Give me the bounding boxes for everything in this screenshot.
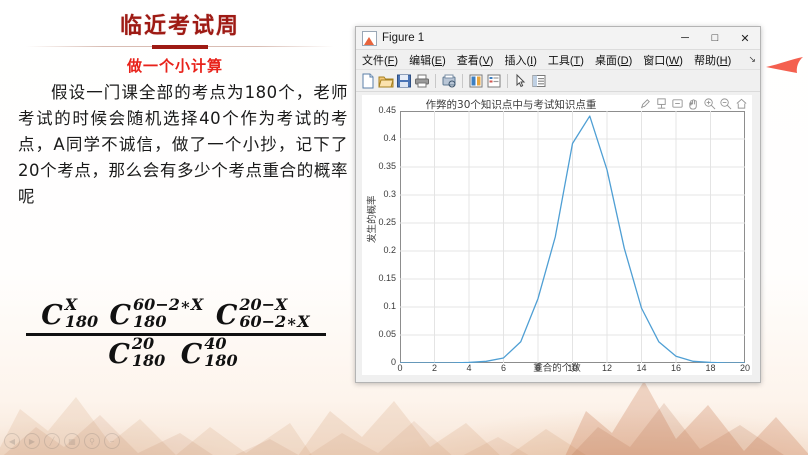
x-tick-label: 0 bbox=[390, 363, 410, 373]
menu-mnemonic: E bbox=[435, 55, 442, 67]
formula-numerator: CX180 C60−2∗X180 C20−X60−2∗X bbox=[26, 300, 326, 331]
toolbar-separator bbox=[507, 74, 508, 88]
menu-label: 插入 bbox=[504, 55, 526, 67]
zoom-in-icon[interactable] bbox=[703, 97, 716, 110]
y-tick-label: 0.15 bbox=[366, 273, 396, 283]
matlab-figure-window[interactable]: Figure 1 ─ □ ✕ 文件(F) 编辑(E) 查看(V) 插入(I) 工… bbox=[355, 26, 761, 383]
menu-mnemonic: F bbox=[388, 55, 395, 67]
toolbar-separator bbox=[462, 74, 463, 88]
brush-data-icon[interactable] bbox=[639, 97, 652, 110]
title-accent-bar bbox=[152, 45, 208, 49]
menu-mnemonic: T bbox=[574, 55, 581, 67]
menu-label: 文件 bbox=[362, 55, 384, 67]
x-tick-label: 18 bbox=[701, 363, 721, 373]
y-tick-label: 0.3 bbox=[366, 189, 396, 199]
property-inspector-icon[interactable] bbox=[531, 73, 547, 89]
formula-term-subscript: 180 bbox=[65, 312, 98, 331]
more-icon[interactable]: − bbox=[104, 433, 120, 449]
print-preview-icon[interactable] bbox=[441, 73, 457, 89]
open-file-icon[interactable] bbox=[378, 73, 394, 89]
menu-label: 编辑 bbox=[409, 55, 431, 67]
slide-grid-icon[interactable]: ▦ bbox=[64, 433, 80, 449]
menu-label: 帮助 bbox=[694, 55, 716, 67]
toolbar-separator bbox=[435, 74, 436, 88]
axes-toolbar[interactable] bbox=[639, 97, 748, 110]
page-title: 临近考试周 bbox=[0, 8, 360, 40]
x-tick-label: 8 bbox=[528, 363, 548, 373]
formula-term: C20−X60−2∗X bbox=[216, 300, 240, 331]
formula-term: C20180 bbox=[108, 339, 132, 370]
maximize-button[interactable]: □ bbox=[700, 27, 730, 49]
zoom-icon[interactable]: ⚲ bbox=[84, 433, 100, 449]
edit-plot-icon[interactable] bbox=[513, 73, 529, 89]
formula-term-subscript: 60−2∗X bbox=[239, 312, 309, 331]
menu-mnemonic: W bbox=[669, 55, 679, 67]
y-tick-label: 0.25 bbox=[366, 217, 396, 227]
probability-formula: CX180 C60−2∗X180 C20−X60−2∗X C20180 C401… bbox=[26, 300, 326, 370]
menu-mnemonic: H bbox=[720, 55, 728, 67]
formula-term-subscript: 180 bbox=[132, 351, 165, 370]
print-figure-icon[interactable] bbox=[414, 73, 430, 89]
new-figure-icon[interactable] bbox=[360, 73, 376, 89]
formula-term: C60−2∗X180 bbox=[110, 300, 134, 331]
data-tip-icon[interactable] bbox=[655, 97, 668, 110]
formula-term-base: C bbox=[216, 300, 238, 331]
menu-item-desktop[interactable]: 桌面(D) bbox=[595, 52, 632, 68]
menu-label: 桌面 bbox=[595, 55, 617, 67]
y-tick-label: 0.4 bbox=[366, 133, 396, 143]
save-figure-icon[interactable] bbox=[396, 73, 412, 89]
pen-icon[interactable]: ╱ bbox=[44, 433, 60, 449]
prev-slide-icon[interactable]: ◀ bbox=[4, 433, 20, 449]
x-tick-label: 12 bbox=[597, 363, 617, 373]
menu-bar[interactable]: 文件(F) 编辑(E) 查看(V) 插入(I) 工具(T) 桌面(D) 窗口(W… bbox=[356, 50, 760, 70]
formula-term: CX180 bbox=[41, 300, 65, 331]
y-tick-label: 0.2 bbox=[366, 245, 396, 255]
window-titlebar[interactable]: Figure 1 ─ □ ✕ bbox=[356, 27, 760, 50]
figure-toolbar[interactable] bbox=[356, 70, 760, 92]
formula-term-base: C bbox=[108, 339, 130, 370]
menu-item-file[interactable]: 文件(F) bbox=[362, 52, 398, 68]
presentation-controls[interactable]: ◀ ▶ ╱ ▦ ⚲ − bbox=[4, 433, 120, 449]
x-tick-label: 2 bbox=[425, 363, 445, 373]
formula-term-subscript: 180 bbox=[133, 312, 166, 331]
chart-plot bbox=[400, 111, 745, 363]
matlab-figure-icon bbox=[362, 31, 377, 46]
minimize-button[interactable]: ─ bbox=[670, 27, 700, 49]
y-tick-label: 0.45 bbox=[366, 105, 396, 115]
menu-item-help[interactable]: 帮助(H) bbox=[694, 52, 731, 68]
insert-legend-icon[interactable] bbox=[486, 73, 502, 89]
formula-term: C40180 bbox=[181, 339, 205, 370]
background-mountains-center bbox=[290, 371, 620, 455]
x-axis-ticks: 02468101214161820 bbox=[400, 363, 745, 375]
x-tick-label: 14 bbox=[632, 363, 652, 373]
menu-label: 工具 bbox=[548, 55, 570, 67]
x-tick-label: 6 bbox=[494, 363, 514, 373]
menu-item-tools[interactable]: 工具(T) bbox=[548, 52, 584, 68]
window-title: Figure 1 bbox=[382, 32, 670, 44]
presentation-slide: 临近考试周 做一个小计算 假设一门课全部的考点为180个，老师考试的时候会随机选… bbox=[0, 0, 808, 455]
x-tick-label: 20 bbox=[735, 363, 755, 373]
y-tick-label: 0.35 bbox=[366, 161, 396, 171]
zoom-out-icon[interactable] bbox=[719, 97, 732, 110]
menu-item-edit[interactable]: 编辑(E) bbox=[409, 52, 446, 68]
slide-header: 临近考试周 bbox=[0, 8, 360, 49]
menu-mnemonic: I bbox=[530, 55, 533, 67]
menu-item-insert[interactable]: 插入(I) bbox=[504, 52, 536, 68]
formula-term-base: C bbox=[181, 339, 203, 370]
y-tick-label: 0.1 bbox=[366, 301, 396, 311]
red-arrow-cursor bbox=[762, 55, 804, 77]
menu-label: 查看 bbox=[457, 55, 479, 67]
formula-term-base: C bbox=[110, 300, 132, 331]
next-slide-icon[interactable]: ▶ bbox=[24, 433, 40, 449]
home-icon[interactable] bbox=[735, 97, 748, 110]
x-tick-label: 16 bbox=[666, 363, 686, 373]
close-button[interactable]: ✕ bbox=[730, 27, 760, 49]
x-tick-label: 10 bbox=[563, 363, 583, 373]
formula-denominator: C20180 C40180 bbox=[26, 336, 326, 370]
slide-paragraph: 假设一门课全部的考点为180个，老师考试的时候会随机选择40个作为考试的考点，A… bbox=[18, 80, 348, 210]
x-tick-label: 4 bbox=[459, 363, 479, 373]
menu-item-view[interactable]: 查看(V) bbox=[457, 52, 494, 68]
menu-overflow-icon[interactable]: ↘ bbox=[748, 54, 756, 65]
menu-label: 窗口 bbox=[643, 55, 665, 67]
formula-term-subscript: 180 bbox=[204, 351, 237, 370]
y-tick-label: 0.05 bbox=[366, 329, 396, 339]
figure-axes-area: 作弊的30个知识点中与考试知识点重 发生的概率 重合的个数 00.050.10.… bbox=[362, 95, 752, 375]
formula-term-base: C bbox=[41, 300, 63, 331]
y-axis-ticks: 00.050.10.150.20.250.30.350.40.45 bbox=[362, 111, 396, 361]
pan-icon[interactable] bbox=[687, 97, 700, 110]
menu-mnemonic: V bbox=[482, 55, 489, 67]
restore-view-box-icon[interactable] bbox=[671, 97, 684, 110]
insert-colorbar-icon[interactable] bbox=[468, 73, 484, 89]
menu-mnemonic: D bbox=[621, 55, 629, 67]
slide-subtitle: 做一个小计算 bbox=[0, 55, 350, 76]
menu-item-window[interactable]: 窗口(W) bbox=[643, 52, 683, 68]
